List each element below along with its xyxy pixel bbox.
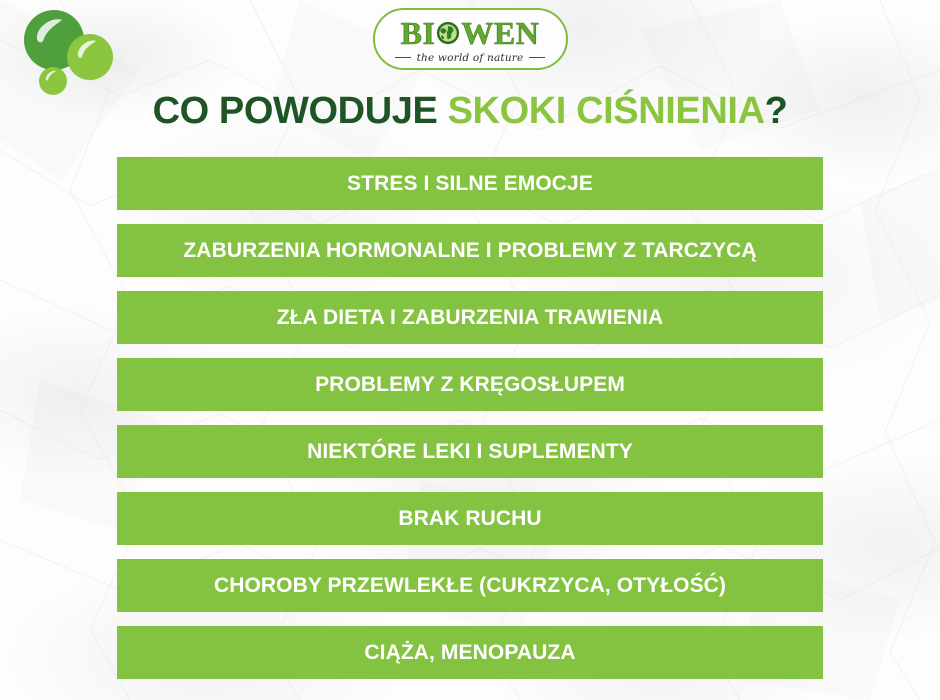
brand-logo: BI WEN the world of nature <box>0 8 940 70</box>
globe-icon <box>436 21 460 45</box>
tagline-dash-left <box>395 57 411 58</box>
cause-list: STRES I SILNE EMOCJEZABURZENIA HORMONALN… <box>117 157 823 679</box>
tagline-dash-right <box>529 57 545 58</box>
cause-bar: STRES I SILNE EMOCJE <box>117 157 823 210</box>
logo-text-part1: BI <box>401 17 436 49</box>
logo-text-part2: WEN <box>461 17 539 49</box>
page-title-part1: CO POWODUJE <box>153 90 448 132</box>
cause-bar: CIĄŻA, MENOPAUZA <box>117 626 823 679</box>
logo-wordmark: BI WEN <box>401 17 540 49</box>
page-title-highlight: SKOKI CIŚNIENIA <box>448 90 765 132</box>
logo-pill: BI WEN the world of nature <box>373 8 568 70</box>
tagline-text: the world of nature <box>417 52 524 64</box>
cause-bar: PROBLEMY Z KRĘGOSŁUPEM <box>117 358 823 411</box>
cause-bar: ZABURZENIA HORMONALNE I PROBLEMY Z TARCZ… <box>117 224 823 277</box>
cause-bar-label: PROBLEMY Z KRĘGOSŁUPEM <box>315 374 625 395</box>
page-title: CO POWODUJE SKOKI CIŚNIENIA? <box>0 92 940 132</box>
cause-bar-label: CHOROBY PRZEWLEKŁE (CUKRZYCA, OTYŁOŚĆ) <box>214 575 726 596</box>
cause-bar: BRAK RUCHU <box>117 492 823 545</box>
cause-bar-label: ZABURZENIA HORMONALNE I PROBLEMY Z TARCZ… <box>183 240 756 261</box>
cause-bar-label: BRAK RUCHU <box>398 508 541 529</box>
cause-bar: CHOROBY PRZEWLEKŁE (CUKRZYCA, OTYŁOŚĆ) <box>117 559 823 612</box>
logo-tagline: the world of nature <box>395 52 546 64</box>
cause-bar-label: CIĄŻA, MENOPAUZA <box>364 642 575 663</box>
cause-bar-label: STRES I SILNE EMOCJE <box>347 173 593 194</box>
cause-bar: NIEKTÓRE LEKI I SUPLEMENTY <box>117 425 823 478</box>
cause-bar-label: NIEKTÓRE LEKI I SUPLEMENTY <box>307 441 633 462</box>
cause-bar-label: ZŁA DIETA I ZABURZENIA TRAWIENIA <box>277 307 664 328</box>
page-title-question-mark: ? <box>765 90 788 132</box>
cause-bar: ZŁA DIETA I ZABURZENIA TRAWIENIA <box>117 291 823 344</box>
